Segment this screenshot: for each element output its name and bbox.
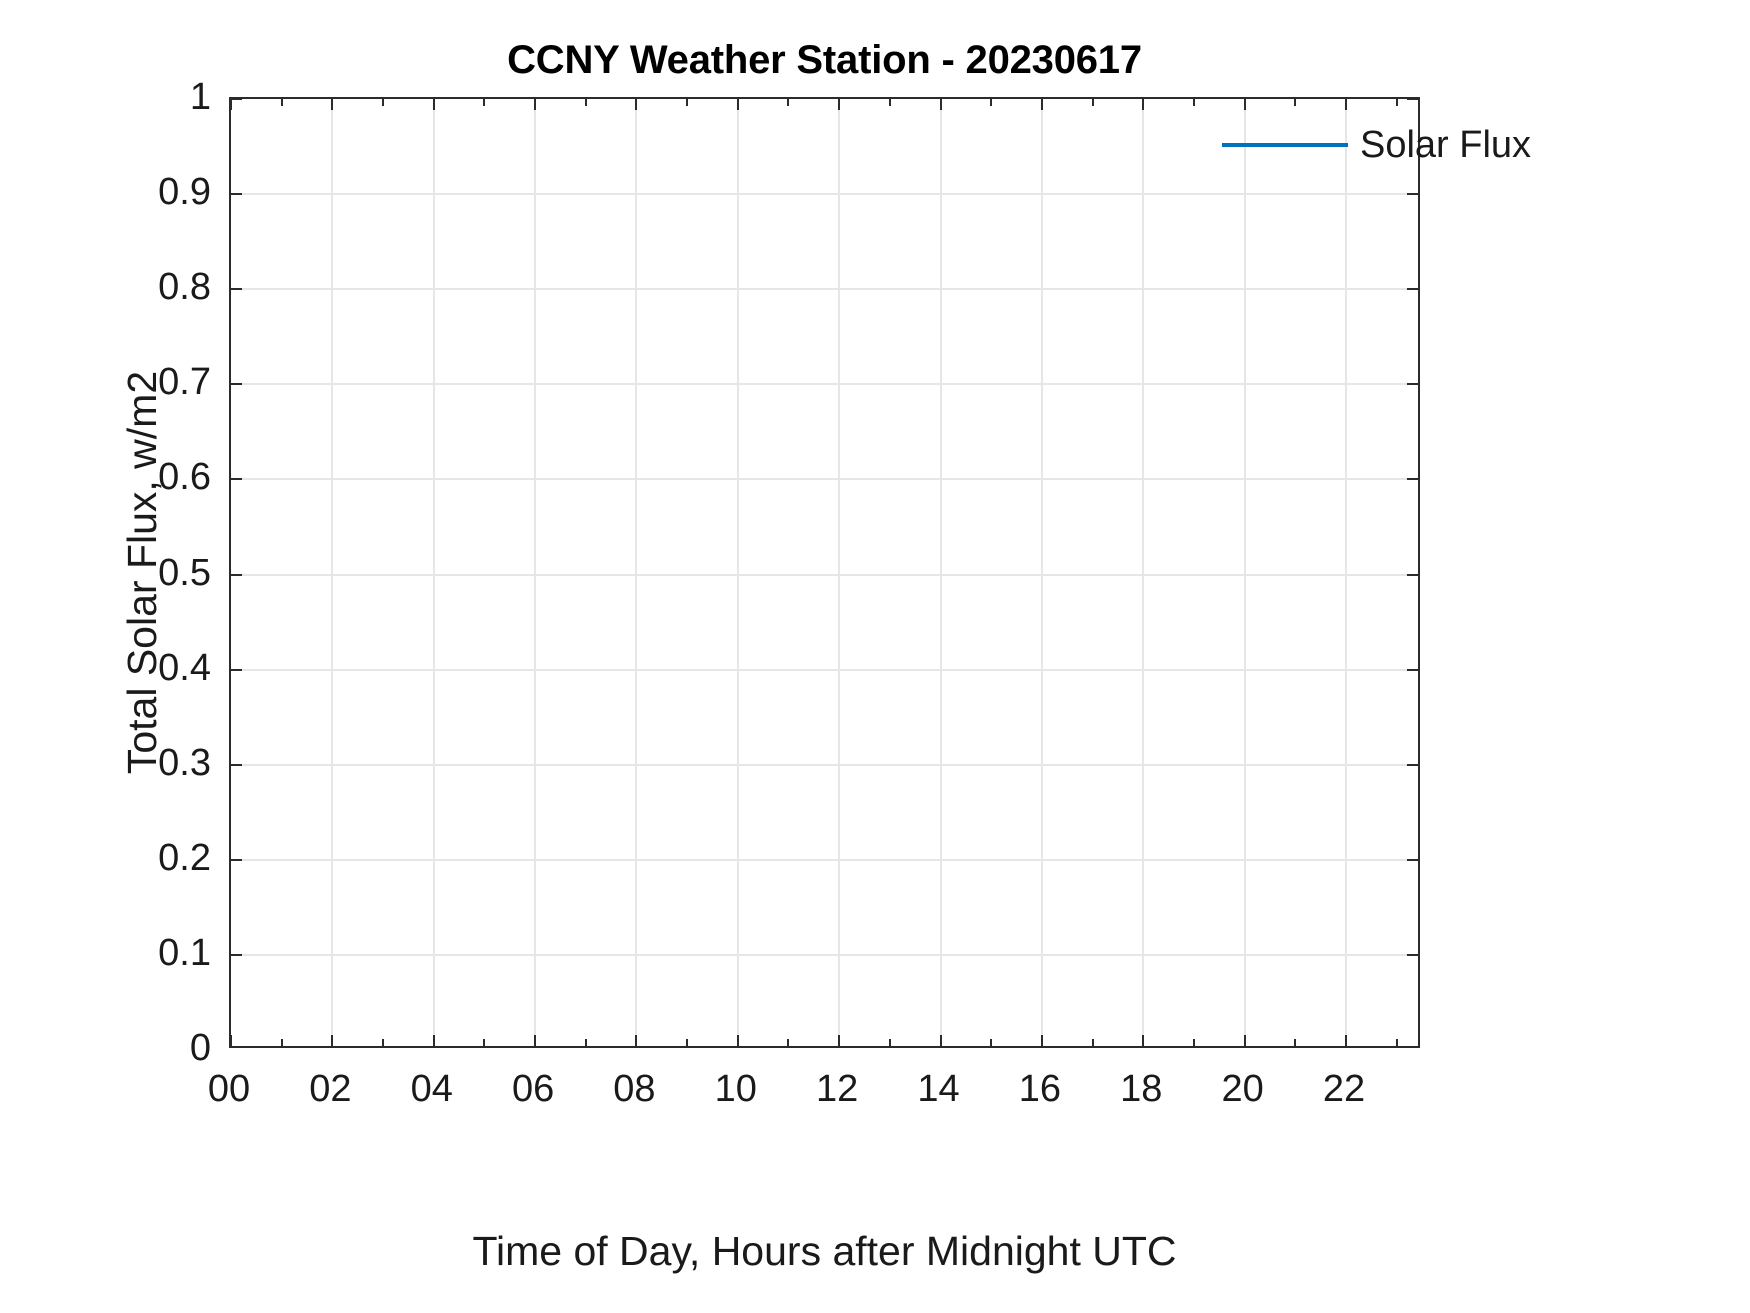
y-tick-label: 0.5: [11, 554, 211, 592]
y-tick-label: 0.3: [11, 744, 211, 782]
y-tick-label: 0.1: [11, 934, 211, 972]
y-tick-label: 1: [11, 78, 211, 116]
legend-line-solar-flux: [1222, 143, 1348, 147]
y-tick-label: 0: [11, 1029, 211, 1067]
y-tick-label: 0.7: [11, 363, 211, 401]
y-axis-title: Total Solar Flux, w/m2: [119, 97, 166, 1048]
y-tick-label: 0.2: [11, 839, 211, 877]
y-tick-label: 0.9: [11, 173, 211, 211]
x-tick-label: 22: [1284, 1070, 1404, 1108]
series-layer-solar-flux: [231, 99, 1418, 1046]
y-tick-label: 0.4: [11, 649, 211, 687]
legend[interactable]: Solar Flux: [1222, 126, 1531, 164]
plot-area[interactable]: [229, 97, 1420, 1048]
y-tick-label: 0.6: [11, 458, 211, 496]
y-tick-label: 0.8: [11, 268, 211, 306]
figure-canvas: CCNY Weather Station - 20230617 00.10.20…: [0, 0, 1750, 1313]
legend-label-solar-flux: Solar Flux: [1360, 126, 1531, 164]
chart-title: CCNY Weather Station - 20230617: [229, 38, 1420, 83]
x-axis-title: Time of Day, Hours after Midnight UTC: [229, 1228, 1420, 1275]
